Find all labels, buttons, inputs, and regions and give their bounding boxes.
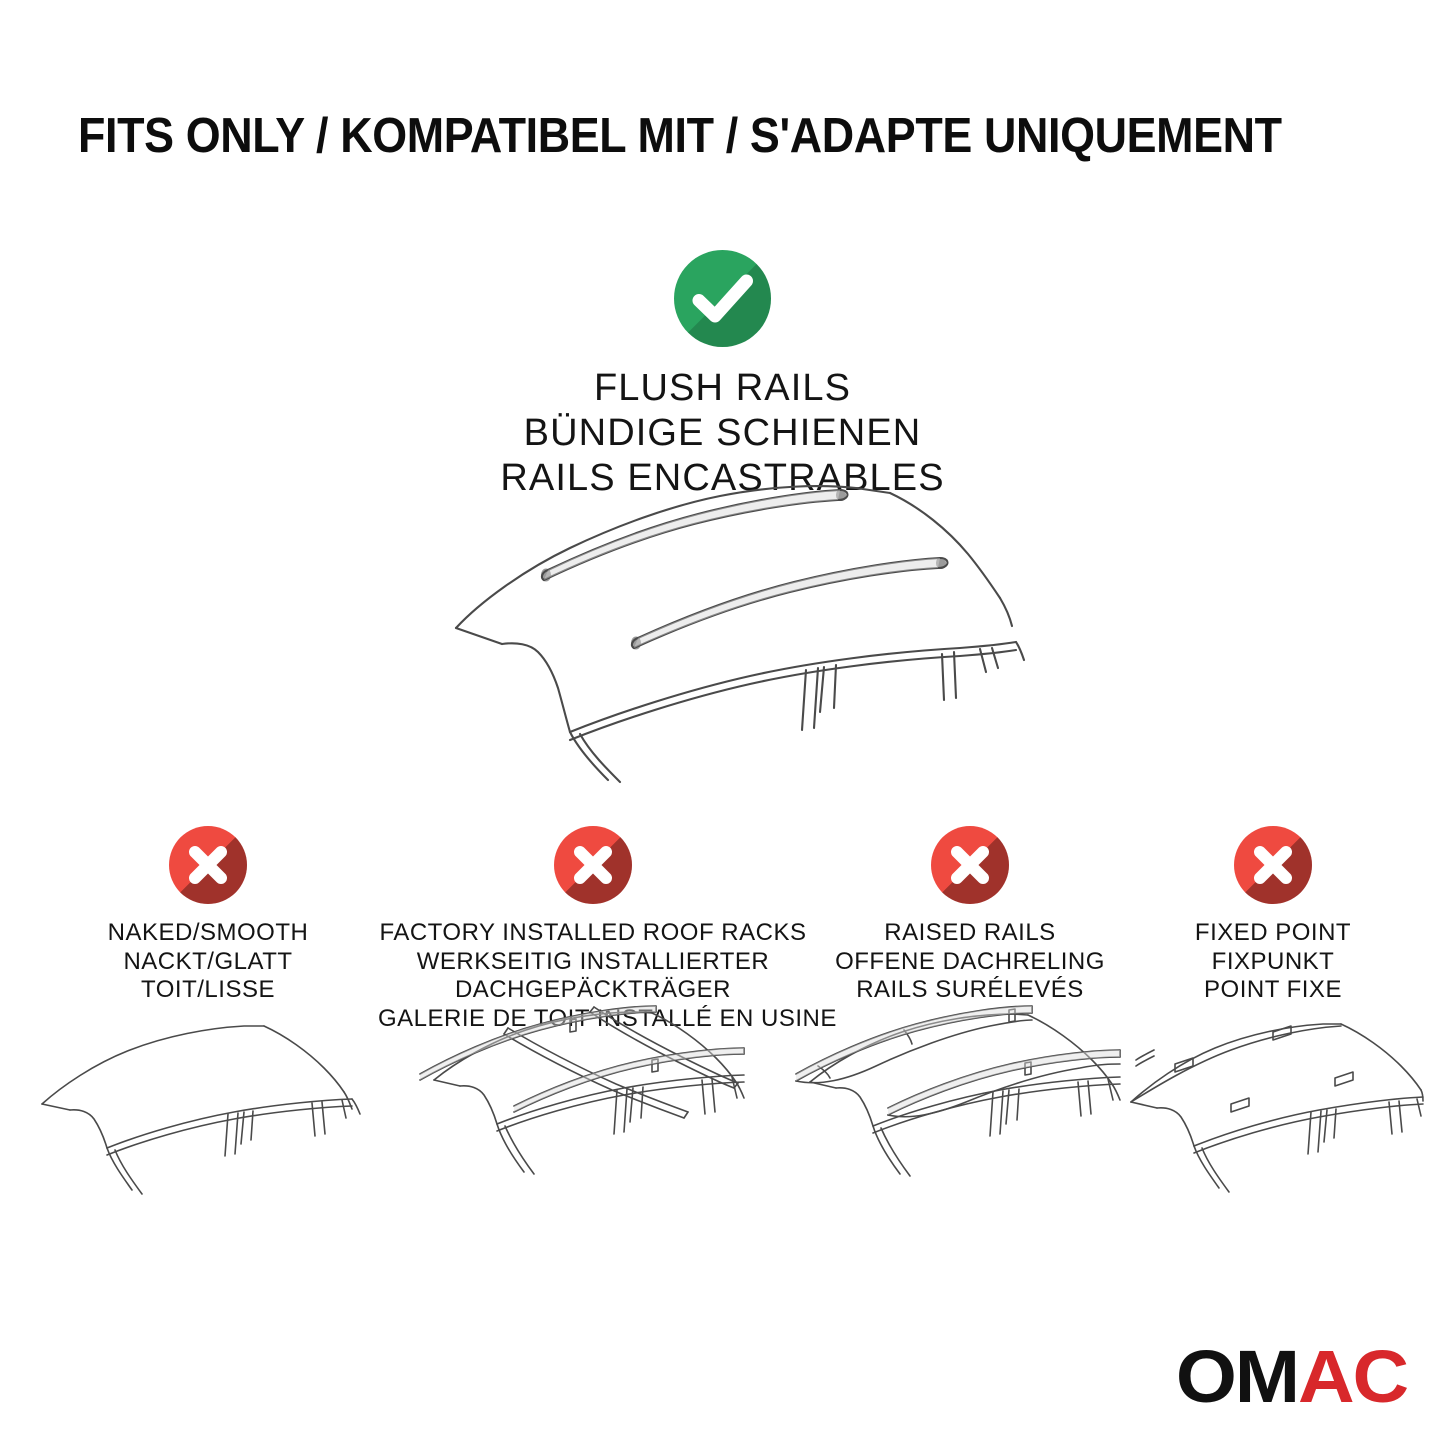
- x-mark-glyph: [169, 826, 247, 904]
- x-circle-icon: [931, 826, 1009, 904]
- incompatible-sections: NAKED/SMOOTH NACKT/GLATT TOIT/LISSE: [0, 826, 1445, 1226]
- incompatible-column-factory-roof-racks: FACTORY INSTALLED ROOF RACKS WERKSEITIG …: [378, 826, 808, 1033]
- car-roof-naked-smooth-illustration: [32, 1008, 384, 1208]
- page-title: FITS ONLY / KOMPATIBEL MIT / S'ADAPTE UN…: [78, 108, 1268, 164]
- x-mark-glyph: [554, 826, 632, 904]
- incompatible-column-naked-smooth: NAKED/SMOOTH NACKT/GLATT TOIT/LISSE: [28, 826, 388, 1005]
- label-line-2: FIXPUNKT: [1128, 948, 1418, 977]
- x-circle-icon: [554, 826, 632, 904]
- fitment-compatibility-infographic: FITS ONLY / KOMPATIBEL MIT / S'ADAPTE UN…: [0, 0, 1445, 1445]
- compatible-label-line-2: BÜNDIGE SCHIENEN: [0, 411, 1445, 456]
- x-circle-icon: [1234, 826, 1312, 904]
- car-roof-fixed-point-illustration: [1123, 1006, 1423, 1206]
- check-circle-icon: [674, 250, 771, 347]
- label-line-2: NACKT/GLATT: [28, 948, 388, 977]
- incompatible-label-fixed-point: FIXED POINT FIXPUNKT POINT FIXE: [1128, 919, 1418, 1005]
- car-roof-with-flush-rails-illustration: [420, 462, 1030, 782]
- incompatible-label-raised-rails: RAISED RAILS OFFENE DACHRELING RAILS SUR…: [800, 919, 1140, 1005]
- x-mark-glyph: [931, 826, 1009, 904]
- label-line-2: OFFENE DACHRELING: [800, 948, 1140, 977]
- check-mark-glyph: [674, 250, 771, 347]
- car-roof-factory-installed-roof-racks-illustration: [404, 994, 782, 1210]
- incompatible-column-raised-rails: RAISED RAILS OFFENE DACHRELING RAILS SUR…: [800, 826, 1140, 1005]
- x-circle-icon: [169, 826, 247, 904]
- compatible-label-line-1: FLUSH RAILS: [0, 366, 1445, 411]
- label-line-3: POINT FIXE: [1128, 976, 1418, 1005]
- incompatible-label-naked-smooth: NAKED/SMOOTH NACKT/GLATT TOIT/LISSE: [28, 919, 388, 1005]
- label-line-1: RAISED RAILS: [800, 919, 1140, 948]
- label-line-3: TOIT/LISSE: [28, 976, 388, 1005]
- label-line-1: FIXED POINT: [1128, 919, 1418, 948]
- logo-text-om: OM: [1176, 1335, 1298, 1418]
- incompatible-column-fixed-point: FIXED POINT FIXPUNKT POINT FIXE: [1128, 826, 1418, 1005]
- label-line-2: WERKSEITIG INSTALLIERTER: [378, 948, 808, 977]
- x-mark-glyph: [1234, 826, 1312, 904]
- omac-logo: OMAC: [1176, 1337, 1407, 1417]
- car-roof-raised-rails-illustration: [784, 994, 1156, 1208]
- logo-text-ac: AC: [1298, 1335, 1407, 1418]
- label-line-1: FACTORY INSTALLED ROOF RACKS: [378, 919, 808, 948]
- label-line-1: NAKED/SMOOTH: [28, 919, 388, 948]
